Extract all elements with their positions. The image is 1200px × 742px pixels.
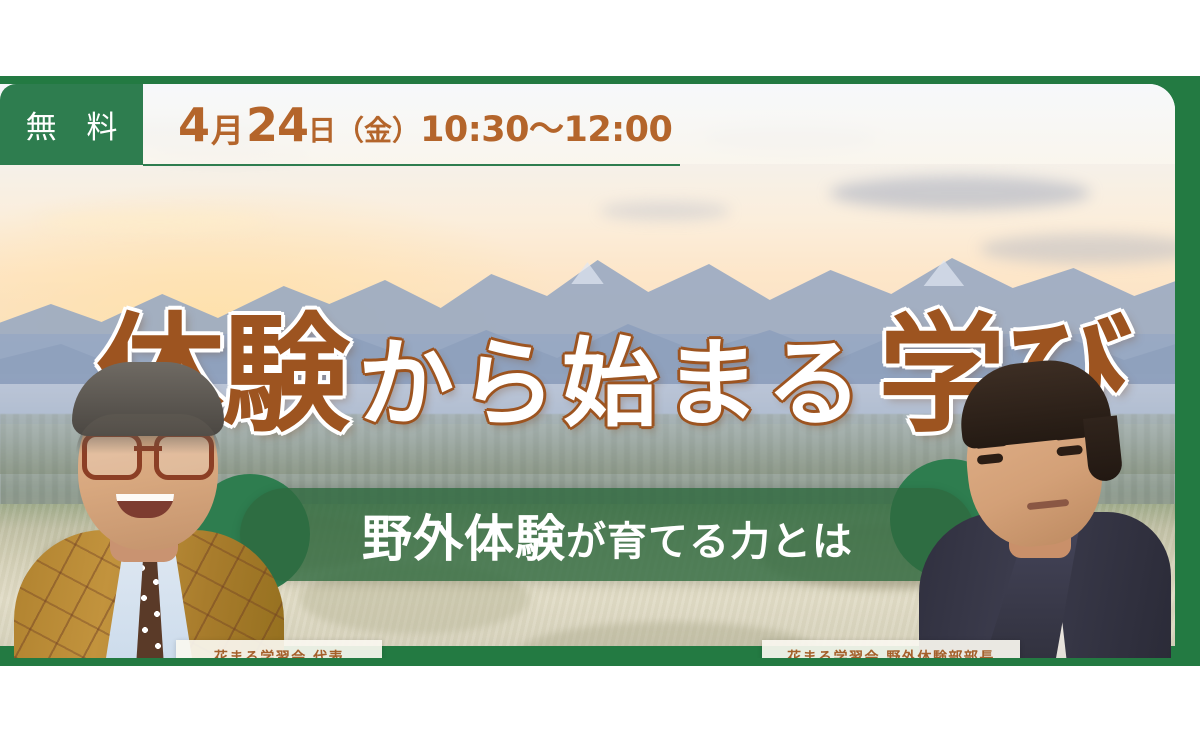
left-speaker-portrait [14,358,284,658]
seminar-banner: 無 料 4 月 24 日 （金） 10:30〜12:00 体験 から始まる 学び… [0,76,1200,666]
event-month-number: 4 [178,98,209,152]
subtitle-emphasis: 野外体験 [362,499,566,571]
speaker-nameplate-left: 花まる学習会 代表 高濱 正伸 [176,640,382,658]
free-badge: 無 料 [0,84,143,165]
speaker-nameplate-right: 花まる学習会 野外体験部部長 箕浦 健治 [762,640,1020,658]
cloud [830,176,1090,210]
event-day-unit: 日 [308,109,336,149]
right-speaker-portrait [915,348,1165,658]
banner-artwork: 無 料 4 月 24 日 （金） 10:30〜12:00 体験 から始まる 学び… [0,84,1175,658]
event-time: 10:30〜12:00 [420,101,672,152]
speaker-role: 花まる学習会 代表 [192,647,366,658]
event-weekday: （金） [336,109,420,149]
cloud [40,212,270,232]
cloud [600,202,730,220]
speaker-role: 花まる学習会 野外体験部部長 [778,647,1004,658]
subtitle-pill: 野外体験 が育てる力とは [240,488,975,581]
event-day-number: 24 [246,98,308,152]
event-datetime: 4 月 24 日 （金） 10:30〜12:00 [178,84,672,165]
subtitle-rest: が育てる力とは [566,509,853,567]
hair [72,362,224,436]
hair [955,354,1113,449]
event-month-unit: 月 [211,104,244,152]
headline-part-2: から始まる [358,336,868,432]
